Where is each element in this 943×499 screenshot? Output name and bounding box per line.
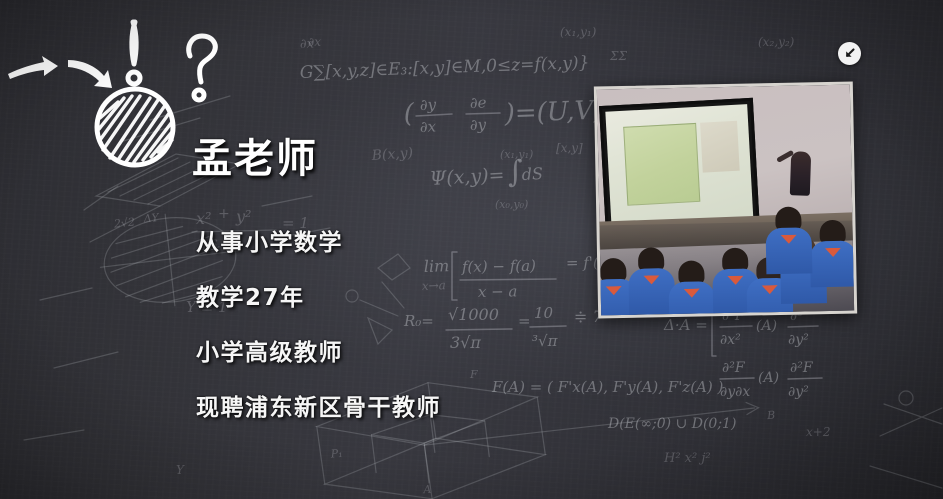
svg-text:Ψ(x,y)=: Ψ(x,y)= (429, 164, 505, 190)
svg-text:∂²F: ∂²F (722, 360, 746, 376)
list-item: 从事小学数学 (196, 232, 441, 255)
list-item: 教学27年 (196, 287, 441, 310)
question-mark-icon (189, 36, 216, 100)
arrow-right-icon (8, 56, 58, 79)
svg-text:(: ( (403, 99, 415, 129)
svg-text:x − a: x − a (478, 282, 518, 301)
projector-screen (599, 98, 760, 232)
svg-text:∂y²: ∂y² (788, 384, 809, 400)
svg-text:[x,y]: [x,y] (556, 141, 583, 155)
svg-text:(A): (A) (758, 370, 779, 386)
svg-text:F: F (469, 368, 478, 381)
svg-text:√1000: √1000 (448, 305, 499, 324)
list-item: 现聘浦东新区骨干教师 (196, 397, 441, 420)
svg-text:Y: Y (176, 463, 185, 477)
svg-text:A: A (422, 483, 432, 497)
svg-text:∂x: ∂x (308, 35, 321, 49)
svg-text:f(x) − f(a): f(x) − f(a) (461, 257, 536, 276)
svg-text:∂y²: ∂y² (788, 332, 809, 348)
list-item: 小学高级教师 (196, 342, 441, 365)
svg-text:³√π: ³√π (532, 332, 559, 350)
svg-text:P₁: P₁ (329, 447, 343, 461)
svg-text:(x₀,y₀): (x₀,y₀) (495, 198, 528, 211)
hatched-circle-icon (97, 89, 173, 165)
svg-text:=: = (518, 312, 531, 330)
svg-text:x+2: x+2 (806, 425, 830, 439)
svg-text:∂x²: ∂x² (720, 332, 741, 348)
svg-text:(x₁,y₁): (x₁,y₁) (500, 148, 533, 161)
svg-text:(A): (A) (756, 318, 777, 334)
svg-text:)=(U,V): )=(U,V) (503, 96, 604, 129)
svg-text:F(A) = ( F'x(A), F'y(A), F'z(A: F(A) = ( F'x(A), F'y(A), F'z(A) ) (491, 378, 724, 396)
svg-text:(x₂,y₂): (x₂,y₂) (758, 35, 795, 49)
svg-text:y²: y² (235, 207, 251, 226)
svg-text:∂e: ∂e (470, 93, 487, 112)
svg-text:ΣΣ: ΣΣ (609, 49, 627, 63)
page-title: 孟老师 (192, 126, 318, 184)
svg-text:10: 10 (534, 304, 554, 322)
svg-text:x²: x² (196, 209, 211, 228)
svg-text:∂²F: ∂²F (790, 360, 814, 376)
svg-text:+: + (218, 206, 230, 222)
svg-text:Δ·A =: Δ·A = (663, 316, 708, 334)
svg-text:ΔY: ΔY (142, 211, 161, 226)
teacher-figure (790, 151, 811, 196)
svg-text:(x₁,y₁): (x₁,y₁) (560, 25, 597, 39)
classroom-video-thumbnail[interactable] (594, 82, 857, 319)
svg-text:B: B (766, 409, 776, 423)
svg-text:dS: dS (521, 164, 543, 184)
svg-text:D(E(∞;0) ∪ D(0;1): D(E(∞;0) ∪ D(0;1) (607, 416, 736, 432)
svg-text:∂y∂x: ∂y∂x (720, 384, 750, 400)
slide-content-green (623, 123, 700, 206)
students-group (594, 220, 857, 318)
collapse-button[interactable] (838, 42, 861, 65)
svg-text:B(x,y): B(x,y) (370, 145, 413, 164)
teacher-bio-list: 从事小学数学 教学27年 小学高级教师 现聘浦东新区骨干教师 (196, 232, 441, 420)
slide-root: .ch{fill:none;stroke:#c9cbd2;stroke-opac… (0, 0, 943, 499)
svg-text:∂x: ∂x (420, 117, 437, 136)
svg-text:∂y: ∂y (470, 115, 487, 134)
svg-text:3√π: 3√π (450, 333, 481, 352)
exclamation-mark-icon (128, 22, 140, 84)
svg-text:∂y: ∂y (420, 95, 437, 114)
arrow-down-left-icon (843, 47, 856, 60)
slide-content-side (700, 121, 740, 173)
svg-text:G∑[x,y,z]∈E₃:[x,y]∈M,0≤z=f(x,y: G∑[x,y,z]∈E₃:[x,y]∈M,0≤z=f(x,y)} (299, 53, 589, 83)
svg-text:Η² x² j²: Η² x² j² (663, 451, 711, 466)
arrow-down-right-icon (68, 60, 112, 88)
